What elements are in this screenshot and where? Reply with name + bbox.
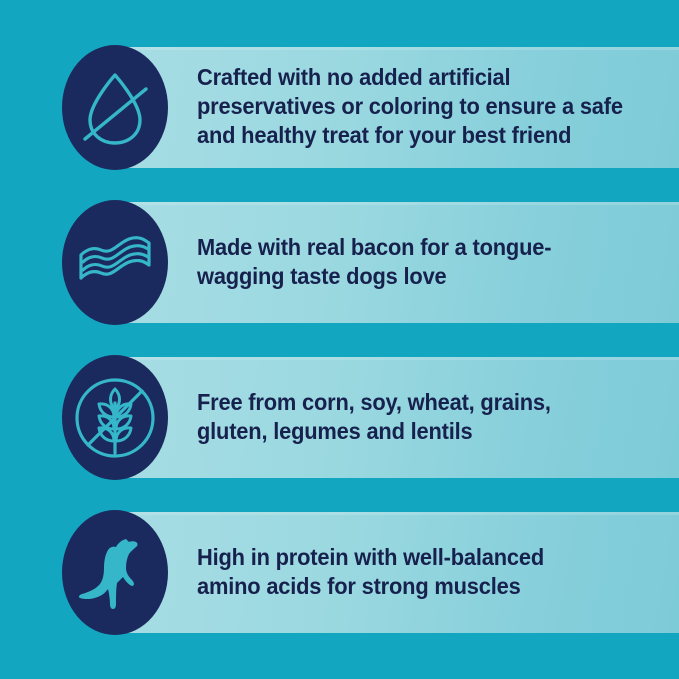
feature-row: Free from corn, soy, wheat, grains, glut… (0, 355, 679, 480)
feature-row: Made with real bacon for a tongue- waggi… (0, 200, 679, 325)
no-wheat-grain-icon (62, 355, 168, 480)
bacon-strip-icon (62, 200, 168, 325)
feature-text: Made with real bacon for a tongue- waggi… (197, 233, 634, 291)
feature-text: Free from corn, soy, wheat, grains, glut… (197, 388, 634, 446)
feature-row: High in protein with well-balanced amino… (0, 510, 679, 635)
feature-benefits-panel: Crafted with no added artificial preserv… (0, 0, 679, 679)
feature-text: Crafted with no added artificial preserv… (197, 63, 634, 150)
no-water-droplet-icon (62, 45, 168, 170)
feature-text: High in protein with well-balanced amino… (197, 543, 634, 601)
feature-row: Crafted with no added artificial preserv… (0, 45, 679, 170)
dog-silhouette-icon (62, 510, 168, 635)
